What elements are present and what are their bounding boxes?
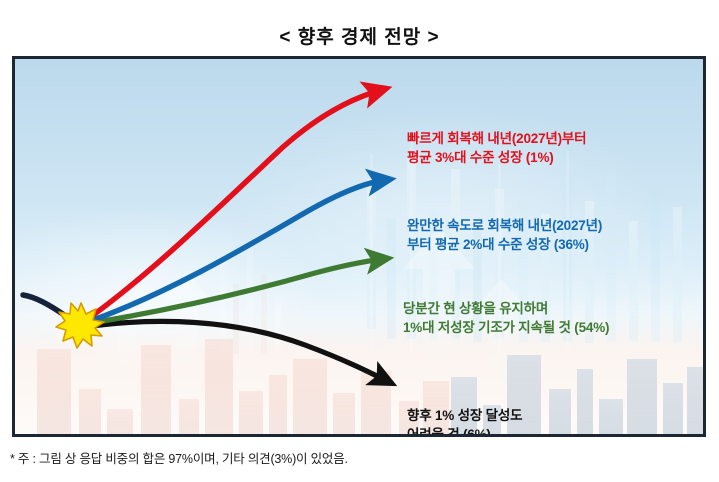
figure-frame: 빠르게 회복해 내년(2027년)부터 평균 3%대 수준 성장 (1%) 완만… — [12, 56, 706, 437]
series-label-black-line2: 어려울 것 (6%) — [407, 425, 522, 437]
curve-red-steep — [85, 90, 381, 321]
series-label-green-line2: 1%대 저성장 기조가 지속될 것 (54%) — [403, 318, 609, 337]
series-label-red-line2: 평균 3%대 수준 성장 (1%) — [407, 148, 586, 167]
series-label-red-line1: 빠르게 회복해 내년(2027년)부터 — [407, 129, 586, 148]
series-label-black: 향후 1% 성장 달성도 어려울 것 (6%) — [407, 406, 522, 437]
series-label-blue-line2: 부터 평균 2%대 수준 성장 (36%) — [407, 235, 602, 254]
curve-blue-moderate — [85, 180, 385, 323]
page-title: < 향후 경제 전망 > — [0, 22, 719, 49]
series-label-green-line1: 당분간 현 상황을 유지하며 — [403, 299, 609, 318]
series-label-red: 빠르게 회복해 내년(2027년)부터 평균 3%대 수준 성장 (1%) — [407, 129, 586, 167]
curve-green-flat — [85, 259, 383, 324]
footnote-text: * 주 : 그림 상 응답 비중의 합은 97%이며, 기타 의견(3%)이 있… — [10, 448, 348, 467]
series-label-blue-line1: 완만한 속도로 회복해 내년(2027년) — [407, 216, 602, 235]
curve-black-decline — [85, 321, 387, 381]
series-label-blue: 완만한 속도로 회복해 내년(2027년) 부터 평균 2%대 수준 성장 (3… — [407, 216, 602, 254]
figure-canvas: 빠르게 회복해 내년(2027년)부터 평균 3%대 수준 성장 (1%) 완만… — [15, 59, 703, 434]
series-label-green: 당분간 현 상황을 유지하며 1%대 저성장 기조가 지속될 것 (54%) — [403, 299, 609, 337]
series-label-black-line1: 향후 1% 성장 달성도 — [407, 406, 522, 425]
